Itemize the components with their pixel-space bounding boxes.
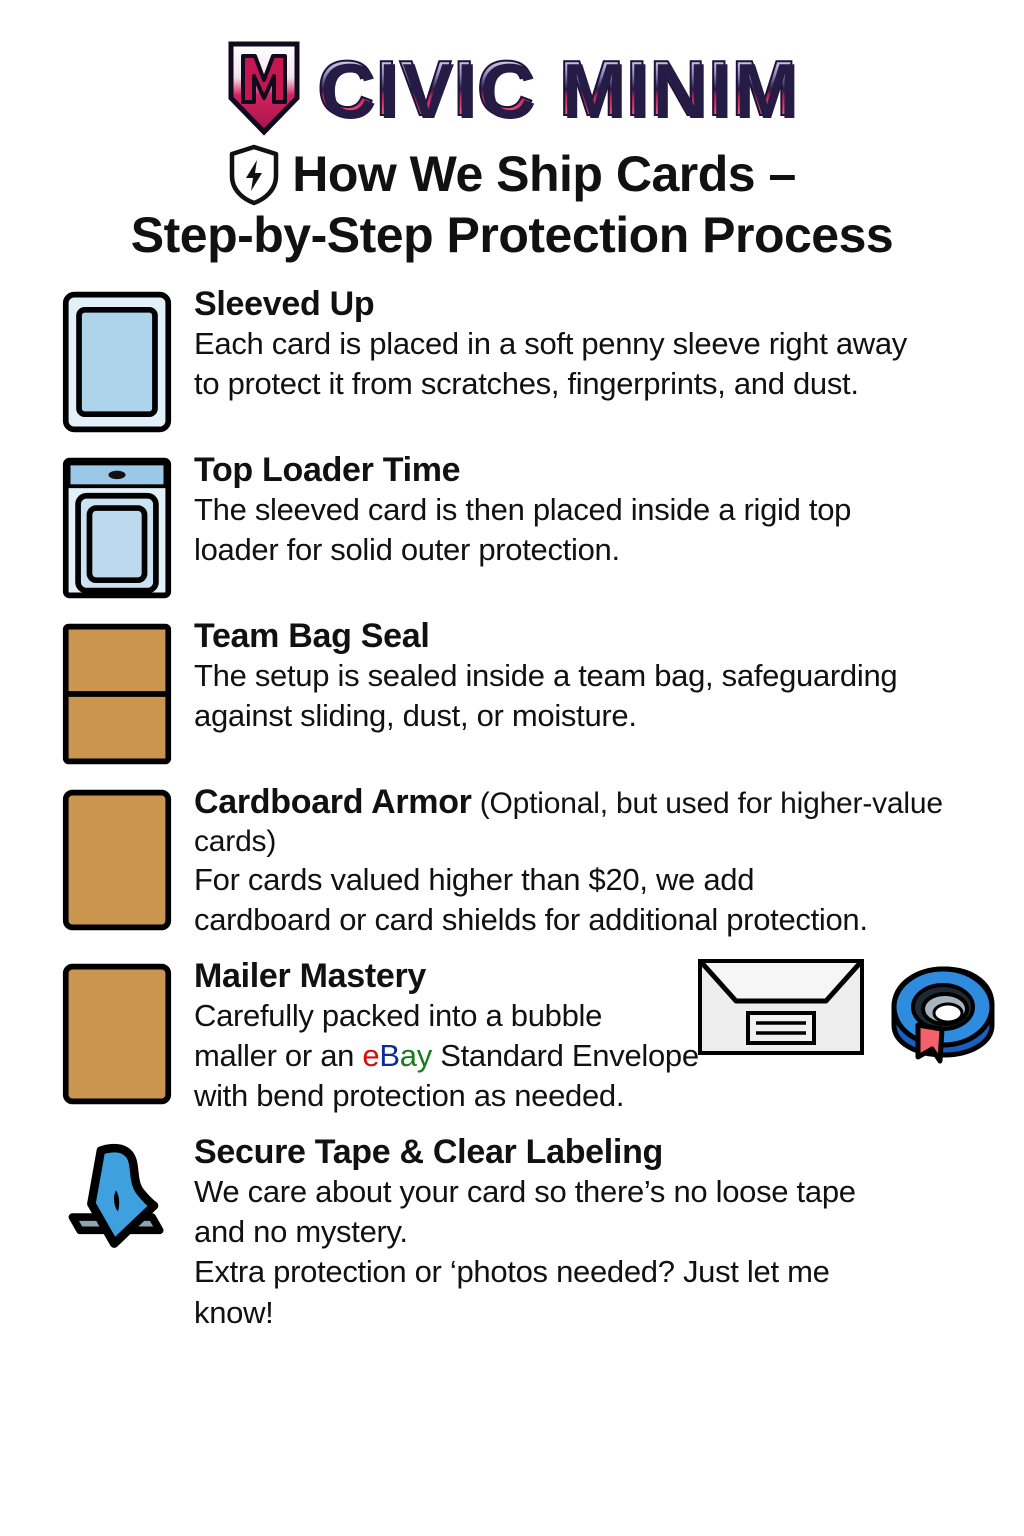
shield-m-emblem-icon bbox=[225, 40, 303, 136]
step-line: For cards valued higher than $20, we add bbox=[194, 860, 1006, 900]
penny-sleeve-icon bbox=[58, 285, 176, 435]
envelope-icon bbox=[696, 957, 866, 1062]
step-heading: Secure Tape & Clear Labeling bbox=[194, 1133, 1006, 1171]
step-line: The setup is sealed inside a team bag, s… bbox=[194, 656, 1006, 696]
step-mailer-mastery: Mailer Mastery Carefully packed into a b… bbox=[58, 957, 1006, 1117]
step-secure-tape: Secure Tape & Clear Labeling We care abo… bbox=[58, 1133, 1006, 1333]
step-line: and no mystery. bbox=[194, 1212, 1006, 1252]
step-description: We care about your card so there’s no lo… bbox=[194, 1172, 1006, 1333]
top-loader-icon bbox=[58, 451, 176, 601]
steps-list: Sleeved Up Each card is placed in a soft… bbox=[0, 285, 1024, 1333]
step-line-suffix: Standard Envelope bbox=[432, 1038, 699, 1073]
step-top-loader: Top Loader Time The sleeved card is then… bbox=[58, 451, 1006, 601]
brand-header: CIVIC MINIM bbox=[0, 0, 1024, 140]
step-line: to protect it from scratches, fingerprin… bbox=[194, 364, 1006, 404]
step-description: Each card is placed in a soft penny slee… bbox=[194, 324, 1006, 405]
step-description: The setup is sealed inside a team bag, s… bbox=[194, 656, 1006, 737]
step-heading: Cardboard Armor (Optional, but used for … bbox=[194, 783, 1006, 859]
step-line: loader for solid outer protection. bbox=[194, 530, 1006, 570]
tape-roll-icon bbox=[882, 957, 1000, 1074]
team-bag-icon bbox=[58, 617, 176, 767]
step-line: Each card is placed in a soft penny slee… bbox=[194, 324, 1006, 364]
step-heading: Top Loader Time bbox=[194, 451, 1006, 489]
step-line-prefix: maller or an bbox=[194, 1038, 362, 1073]
step-description: For cards valued higher than $20, we add… bbox=[194, 860, 1006, 941]
step-description: The sleeved card is then placed inside a… bbox=[194, 490, 1006, 571]
page-title: How We Ship Cards – Step-by-Step Protect… bbox=[0, 142, 1024, 263]
page-title-line1: How We Ship Cards – bbox=[292, 148, 796, 201]
brand-wordmark: CIVIC MINIM bbox=[317, 49, 798, 127]
step-line: against sliding, dust, or moisture. bbox=[194, 696, 1006, 736]
step-line: with bend protection as needed. bbox=[194, 1076, 1006, 1116]
step-line: cardboard or card shields for additional… bbox=[194, 900, 1006, 940]
shield-bolt-icon bbox=[228, 144, 280, 206]
page-title-line2: Step-by-Step Protection Process bbox=[30, 208, 994, 263]
step-line: The sleeved card is then placed inside a… bbox=[194, 490, 1006, 530]
step-line: know! bbox=[194, 1293, 1006, 1333]
marker-pen-icon bbox=[58, 1133, 176, 1261]
step-line: We care about your card so there’s no lo… bbox=[194, 1172, 1006, 1212]
step-sleeved-up: Sleeved Up Each card is placed in a soft… bbox=[58, 285, 1006, 435]
mailer-extra-icons bbox=[696, 957, 1000, 1074]
step-heading: Team Bag Seal bbox=[194, 617, 1006, 655]
ebay-logo-text: eBay bbox=[362, 1038, 432, 1073]
step-line: Extra protection or ‘photos needed? Just… bbox=[194, 1252, 1006, 1292]
step-heading: Sleeved Up bbox=[194, 285, 1006, 323]
step-cardboard-armor: Cardboard Armor (Optional, but used for … bbox=[58, 783, 1006, 941]
mailer-icon bbox=[58, 957, 176, 1107]
step-team-bag: Team Bag Seal The setup is sealed inside… bbox=[58, 617, 1006, 767]
cardboard-armor-icon bbox=[58, 783, 176, 933]
step-heading-main: Cardboard Armor bbox=[194, 783, 472, 821]
